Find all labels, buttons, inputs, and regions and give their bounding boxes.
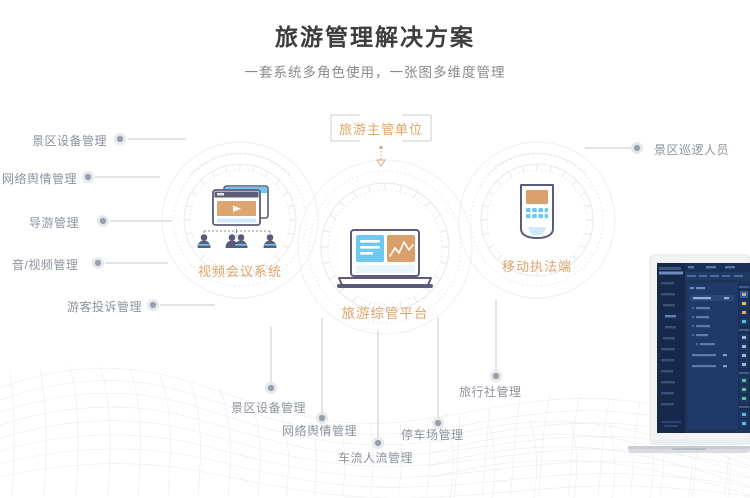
node-mobile-enforce[interactable]: 移动执法端 [487,182,587,275]
laptop-dashboard-icon [325,228,445,290]
label-left-2[interactable]: 导游管理 [29,214,79,231]
label-left-3[interactable]: 音/视频管理 [12,256,78,273]
node-platform-label: 旅游综管平台 [325,302,445,322]
node-video-conference-label: 视频会议系统 [178,261,302,280]
poster-stage: 旅游管理解决方案 一套系统多角色使用，一张图多维度管理 旅游主管单位 [0,0,750,498]
header: 旅游管理解决方案 一套系统多角色使用，一张图多维度管理 [0,22,750,82]
node-video-conference[interactable]: 视频会议系统 [178,183,302,280]
label-bottom-2[interactable]: 车流人流管理 [338,449,413,466]
label-bottom-1[interactable]: 网络舆情管理 [282,422,357,439]
video-conference-icon [178,183,302,249]
label-left-0[interactable]: 景区设备管理 [32,132,107,149]
page-title: 旅游管理解决方案 [0,22,750,52]
label-right-0[interactable]: 景区巡逻人员 [654,141,729,158]
node-platform[interactable]: 旅游综管平台 [325,228,445,322]
laptop-dashboard-mockup [628,253,750,468]
label-bottom-0[interactable]: 景区设备管理 [231,399,306,416]
label-bottom-3[interactable]: 停车场管理 [401,426,464,443]
label-left-4[interactable]: 游客投诉管理 [67,298,142,315]
dotted-down-arrow-icon [372,146,390,168]
label-left-1[interactable]: 网络舆情管理 [2,170,77,187]
label-bottom-4[interactable]: 旅行社管理 [459,383,522,400]
page-subtitle: 一套系统多角色使用，一张图多维度管理 [0,64,750,82]
gov-unit-label: 旅游主管单位 [339,119,423,138]
gov-unit-box[interactable]: 旅游主管单位 [330,114,432,142]
node-mobile-enforce-label: 移动执法端 [487,256,587,275]
mobile-device-icon [487,182,587,244]
